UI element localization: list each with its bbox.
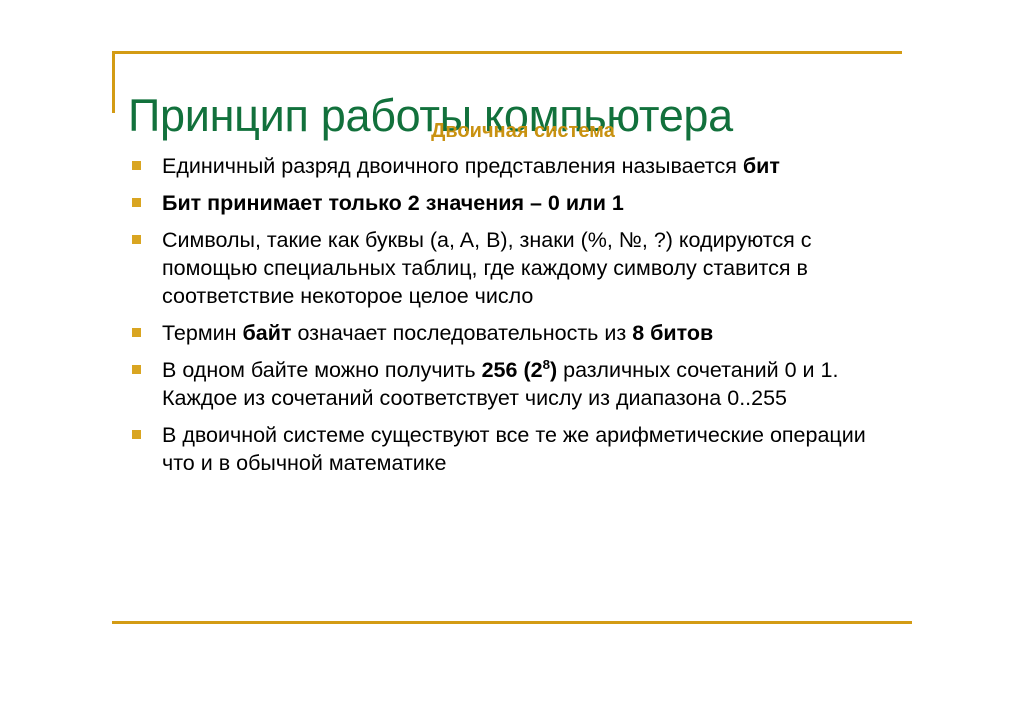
- bottom-divider-rule: [112, 621, 912, 624]
- top-divider-rule: [112, 51, 902, 54]
- list-item: В одном байте можно получить 256 (28) ра…: [126, 356, 926, 412]
- list-item-text: В двоичной системе существуют все те же …: [162, 421, 892, 477]
- presentation-slide: Принцип работы компьютера Двоичная систе…: [0, 0, 1024, 724]
- list-item: Символы, такие как буквы (a, A, B), знак…: [126, 226, 926, 310]
- square-bullet-icon: [132, 328, 141, 337]
- list-item: Термин байт означает последовательность …: [126, 319, 926, 347]
- square-bullet-icon: [132, 430, 141, 439]
- list-item-text: В одном байте можно получить 256 (28) ра…: [162, 356, 892, 412]
- left-accent-rule: [112, 51, 115, 113]
- square-bullet-icon: [132, 235, 141, 244]
- list-item-text: Бит принимает только 2 значения – 0 или …: [162, 189, 892, 217]
- list-item: Бит принимает только 2 значения – 0 или …: [126, 189, 926, 217]
- square-bullet-icon: [132, 161, 141, 170]
- list-item: Единичный разряд двоичного представления…: [126, 152, 926, 180]
- square-bullet-icon: [132, 365, 141, 374]
- list-item-text: Термин байт означает последовательность …: [162, 319, 892, 347]
- list-item: В двоичной системе существуют все те же …: [126, 421, 926, 477]
- list-item-text: Единичный разряд двоичного представления…: [162, 152, 892, 180]
- slide-subtitle: Двоичная система: [128, 119, 918, 143]
- square-bullet-icon: [132, 198, 141, 207]
- bullet-list: Единичный разряд двоичного представления…: [126, 152, 926, 477]
- list-item-text: Символы, такие как буквы (a, A, B), знак…: [162, 226, 892, 310]
